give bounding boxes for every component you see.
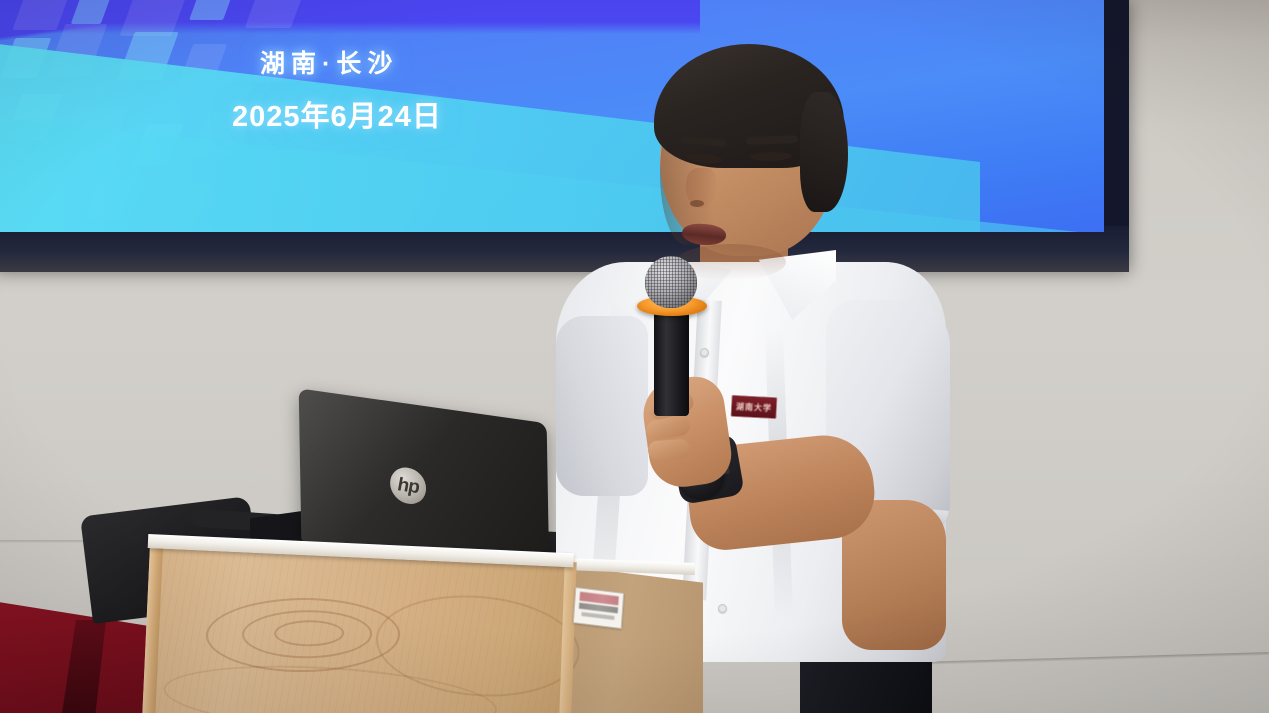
speaker-hair-side bbox=[800, 92, 848, 212]
nostril bbox=[690, 200, 704, 207]
screen-bezel-bottom bbox=[0, 226, 1129, 272]
shirt-button bbox=[718, 604, 727, 613]
slide-text-block: 湖南·长沙 2025年6月24日 bbox=[232, 50, 552, 134]
slide-location-text: 湖南·长沙 bbox=[232, 50, 552, 78]
projection-screen: 湖南·长沙 2025年6月24日 bbox=[0, 0, 1104, 232]
photo-scene: 湖南·长沙 2025年6月24日 hp bbox=[0, 0, 1269, 713]
speaker-left-sleeve bbox=[556, 316, 648, 496]
badge-text: 湖南大学 bbox=[736, 401, 773, 414]
label-text-line bbox=[581, 612, 614, 620]
podium-asset-label bbox=[573, 587, 624, 629]
finger bbox=[647, 439, 690, 461]
podium-front-panel bbox=[142, 545, 574, 713]
microphone-head-icon bbox=[645, 256, 697, 308]
speaker-name-badge: 湖南大学 bbox=[730, 395, 777, 419]
microphone-body bbox=[654, 306, 689, 416]
projection-screen-frame: 湖南·长沙 2025年6月24日 bbox=[0, 0, 1129, 266]
shirt-button bbox=[700, 348, 709, 357]
slide-date-text: 2025年6月24日 bbox=[232, 100, 552, 134]
hp-logo-text: hp bbox=[397, 475, 419, 497]
